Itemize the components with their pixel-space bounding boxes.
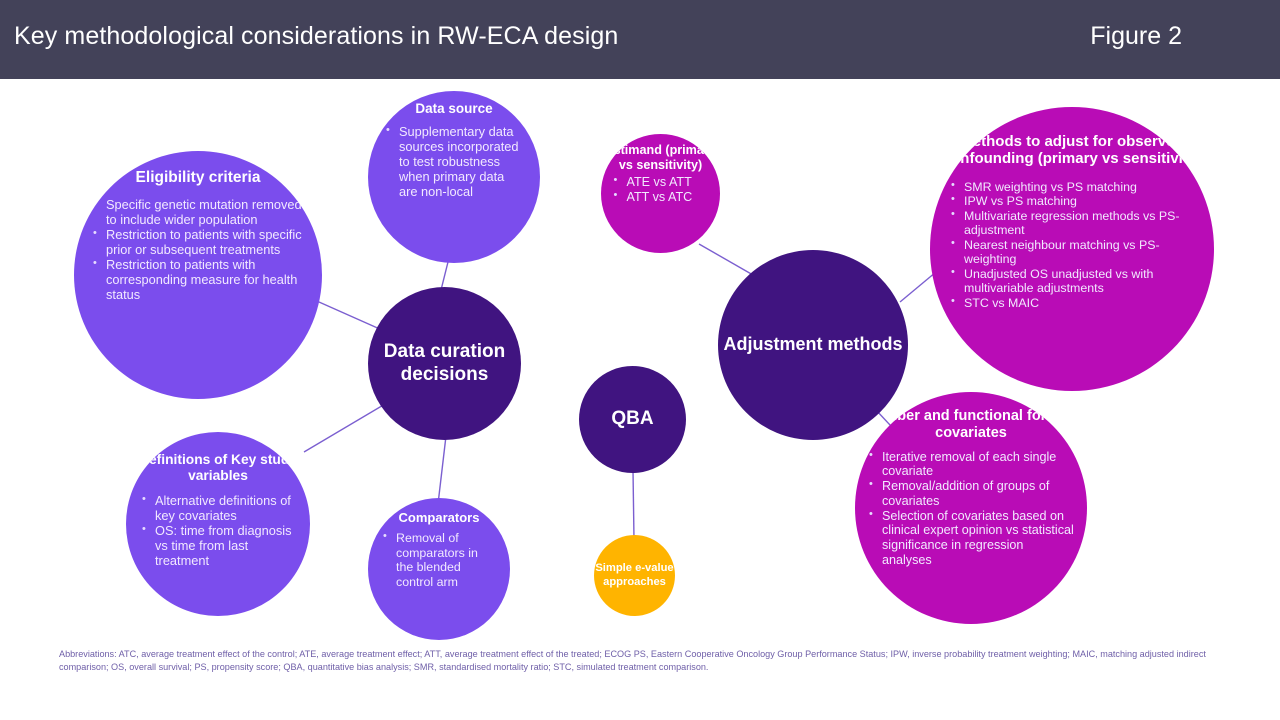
list-item: Restriction to patients with specific pr… — [91, 228, 305, 258]
bubble-comparators[interactable]: Comparators Removal of comparators in th… — [368, 498, 510, 640]
list-item: Nearest neighbour matching vs PS-weighti… — [949, 238, 1195, 267]
bubble-title: Comparators — [368, 510, 510, 525]
list-item: Multivariate regression methods vs PS-ad… — [949, 209, 1195, 238]
bubble-bullet-list: ATE vs ATT ATT vs ATC — [612, 175, 710, 204]
bubble-bullet-list: Removal of comparators in the blended co… — [381, 531, 497, 589]
bubble-bullet-list: Alternative definitions of key covariate… — [140, 494, 296, 569]
hub-label: Adjustment methods — [718, 334, 908, 356]
bubble-number-functional-form-covariates[interactable]: Number and functional form of covariates… — [855, 392, 1087, 624]
bubble-definitions-key-study-variables[interactable]: Definitions of Key study variables Alter… — [126, 432, 310, 616]
bubble-bullet-list: SMR weighting vs PS matching IPW vs PS m… — [949, 180, 1195, 311]
hub-qba[interactable]: QBA — [579, 366, 686, 473]
bubble-methods-to-adjust-confounding[interactable]: Methods to adjust for observed confoundi… — [930, 107, 1214, 391]
hub-label: QBA — [579, 408, 686, 431]
list-item: STC vs MAIC — [949, 296, 1195, 311]
link-definitions-to-datacuration — [304, 404, 385, 452]
bubble-data-source[interactable]: Data source Supplementary data sources i… — [368, 91, 540, 263]
list-item: Removal of comparators in the blended co… — [381, 531, 497, 589]
bubble-title: Methods to adjust for observed confoundi… — [930, 133, 1214, 168]
list-item: Iterative removal of each single covaria… — [867, 450, 1075, 479]
bubble-title: Number and functional form of covariates — [855, 408, 1087, 442]
list-item: ATE vs ATT — [612, 175, 710, 190]
list-item: OS: time from diagnosis vs time from las… — [140, 524, 296, 569]
header-bar: Key methodological considerations in RW-… — [0, 0, 1280, 79]
bubble-title: Estimand (primary vs sensitivity) — [601, 143, 720, 172]
link-qba-to-evalue — [633, 470, 634, 540]
list-item: Unadjusted OS unadjusted vs with multiva… — [949, 267, 1195, 296]
list-item: Selection of covariates based on clinica… — [867, 509, 1075, 568]
abbreviations-footnote: Abbreviations: ATC, average treatment ef… — [59, 648, 1239, 673]
bubble-title: Definitions of Key study variables — [126, 452, 310, 484]
bubble-title: Eligibility criteria — [74, 169, 322, 187]
bubble-bullet-list: Specific genetic mutation removed to inc… — [91, 198, 305, 303]
bubble-bullet-list: Supplementary data sources incorporated … — [384, 125, 524, 200]
bubble-title: Simple e-value approaches — [594, 562, 675, 588]
hub-label: Data curation decisions — [368, 341, 521, 387]
list-item: Supplementary data sources incorporated … — [384, 125, 524, 200]
bubble-estimand[interactable]: Estimand (primary vs sensitivity) ATE vs… — [601, 134, 720, 253]
bubble-eligibility-criteria[interactable]: Eligibility criteria Specific genetic mu… — [74, 151, 322, 399]
link-comparators-to-datacuration — [438, 436, 446, 504]
hub-adjustment-methods[interactable]: Adjustment methods — [718, 250, 908, 440]
list-item: Alternative definitions of key covariate… — [140, 494, 296, 524]
list-item: Removal/addition of groups of covariates — [867, 479, 1075, 508]
figure-number: Figure 2 — [1090, 22, 1182, 51]
link-eligibility-to-datacuration — [310, 298, 382, 330]
figure-slide: Key methodological considerations in RW-… — [0, 0, 1280, 720]
bubble-title: Data source — [368, 101, 540, 117]
list-item: ATT vs ATC — [612, 190, 710, 205]
link-methods-to-adjustment — [900, 272, 936, 302]
list-item: Restriction to patients with correspondi… — [91, 258, 305, 303]
bubble-simple-e-value-approaches[interactable]: Simple e-value approaches — [594, 535, 675, 616]
page-title: Key methodological considerations in RW-… — [14, 22, 618, 51]
hub-data-curation-decisions[interactable]: Data curation decisions — [368, 287, 521, 440]
bubble-bullet-list: Iterative removal of each single covaria… — [867, 450, 1075, 568]
list-item: Specific genetic mutation removed to inc… — [91, 198, 305, 228]
list-item: SMR weighting vs PS matching — [949, 180, 1195, 195]
list-item: IPW vs PS matching — [949, 194, 1195, 209]
